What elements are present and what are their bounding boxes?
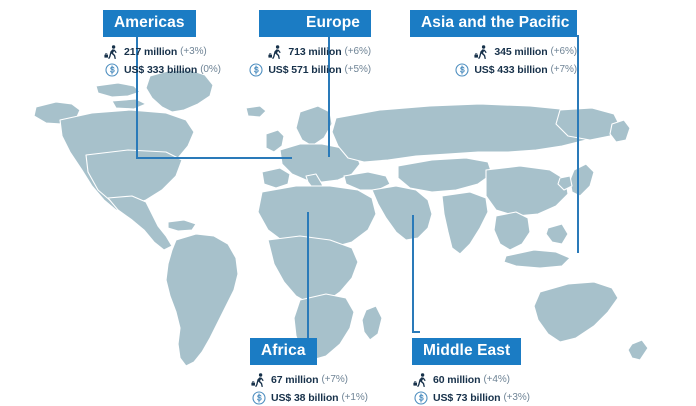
landmass-central-africa	[268, 236, 358, 304]
callout-asia-and-the-pacific: Asia and the Pacific 345 million (+6%) U…	[410, 10, 577, 78]
landmass-middle-east	[372, 186, 432, 240]
arrivals-change: (+4%)	[483, 374, 509, 385]
stat-row-arrivals: 345 million (+6%)	[410, 43, 577, 60]
stat-row-arrivals: 713 million (+6%)	[259, 43, 371, 60]
landmass-british-isles	[266, 130, 284, 152]
receipts-value: US$ 333 billion	[124, 64, 197, 76]
region-stats-asia-and-the-pacific: 345 million (+6%) US$ 433 billion (+7%)	[410, 37, 577, 78]
region-title-africa: Africa	[250, 338, 317, 365]
landmass-iberia	[262, 168, 290, 188]
landmass-new-zealand	[628, 340, 648, 360]
traveller-with-luggage-icon	[473, 44, 490, 59]
region-title-americas: Americas	[103, 10, 196, 37]
leader-line-middle-east-vertical	[412, 215, 414, 333]
landmass-kamchatka	[610, 120, 630, 142]
landmass-arctic-islands	[96, 83, 140, 97]
callout-middle-east: Middle East 60 million (+4%) US$ 73 bill…	[412, 338, 530, 406]
receipts-value: US$ 571 billion	[268, 64, 341, 76]
landmass-scandinavia	[296, 106, 332, 146]
arrivals-value: 67 million	[271, 374, 318, 386]
receipts-change: (+7%)	[551, 64, 577, 75]
region-title-middle-east: Middle East	[412, 338, 521, 365]
landmass-southeast-asia	[494, 212, 530, 250]
callout-europe: Europe 713 million (+6%) US$ 571 billion…	[259, 10, 371, 78]
landmass-china	[486, 166, 568, 216]
leader-line-africa-vertical	[307, 212, 309, 338]
traveller-with-luggage-icon	[250, 372, 267, 387]
landmass-philippines	[546, 224, 568, 244]
traveller-with-luggage-icon	[267, 44, 284, 59]
region-stats-americas: 217 million (+3%) US$ 333 billion (0%)	[103, 37, 221, 78]
arrivals-value: 345 million	[494, 46, 547, 58]
landmass-indonesia	[504, 250, 570, 268]
callout-africa: Africa 67 million (+7%) US$ 38 billion (…	[250, 338, 368, 406]
stat-row-receipts: US$ 333 billion (0%)	[103, 61, 221, 78]
callout-americas: Americas 217 million (+3%) US$ 333 billi…	[103, 10, 221, 78]
stat-row-receipts: US$ 73 billion (+3%)	[412, 389, 530, 406]
dollar-coin-icon	[453, 62, 470, 77]
landmass-central-asia	[398, 158, 492, 192]
stat-row-arrivals: 60 million (+4%)	[412, 371, 530, 388]
leader-line-americas-horizontal	[136, 157, 292, 159]
traveller-with-luggage-icon	[103, 44, 120, 59]
stat-row-receipts: US$ 433 billion (+7%)	[410, 61, 577, 78]
receipts-value: US$ 38 billion	[271, 392, 338, 404]
receipts-change: (+3%)	[503, 392, 529, 403]
traveller-with-luggage-icon	[412, 372, 429, 387]
receipts-value: US$ 73 billion	[433, 392, 500, 404]
landmass-japan	[570, 164, 594, 196]
receipts-change: (0%)	[200, 64, 221, 75]
landmass-india	[442, 192, 488, 254]
arrivals-value: 713 million	[288, 46, 341, 58]
leader-line-middle-east-horizontal	[412, 331, 420, 333]
landmass-mexico-central-america	[108, 196, 172, 250]
region-stats-middle-east: 60 million (+4%) US$ 73 billion (+3%)	[412, 365, 530, 406]
receipts-change: (+5%)	[345, 64, 371, 75]
dollar-coin-icon	[103, 62, 120, 77]
arrivals-value: 60 million	[433, 374, 480, 386]
arrivals-change: (+6%)	[345, 46, 371, 57]
landmass-south-america	[166, 234, 238, 366]
dollar-coin-icon	[412, 390, 429, 405]
landmass-iceland	[246, 106, 266, 117]
region-title-asia-and-the-pacific: Asia and the Pacific	[410, 10, 577, 37]
stat-row-arrivals: 217 million (+3%)	[103, 43, 221, 60]
region-stats-africa: 67 million (+7%) US$ 38 billion (+1%)	[250, 365, 368, 406]
receipts-value: US$ 433 billion	[474, 64, 547, 76]
stat-row-arrivals: 67 million (+7%)	[250, 371, 368, 388]
landmass-australia	[534, 282, 618, 342]
dollar-coin-icon	[250, 390, 267, 405]
stat-row-receipts: US$ 571 billion (+5%)	[259, 61, 371, 78]
leader-line-asia-pacific-vertical	[577, 35, 579, 253]
arrivals-change: (+3%)	[180, 46, 206, 57]
stat-row-receipts: US$ 38 billion (+1%)	[250, 389, 368, 406]
arrivals-value: 217 million	[124, 46, 177, 58]
landmass-turkey	[344, 172, 390, 190]
dollar-coin-icon	[247, 62, 264, 77]
arrivals-change: (+6%)	[551, 46, 577, 57]
region-title-europe: Europe	[259, 10, 371, 37]
landmass-caribbean	[168, 220, 196, 231]
landmass-arctic-islands-2	[112, 99, 146, 109]
landmass-madagascar	[362, 306, 382, 340]
receipts-change: (+1%)	[341, 392, 367, 403]
region-stats-europe: 713 million (+6%) US$ 571 billion (+5%)	[259, 37, 371, 78]
arrivals-change: (+7%)	[321, 374, 347, 385]
